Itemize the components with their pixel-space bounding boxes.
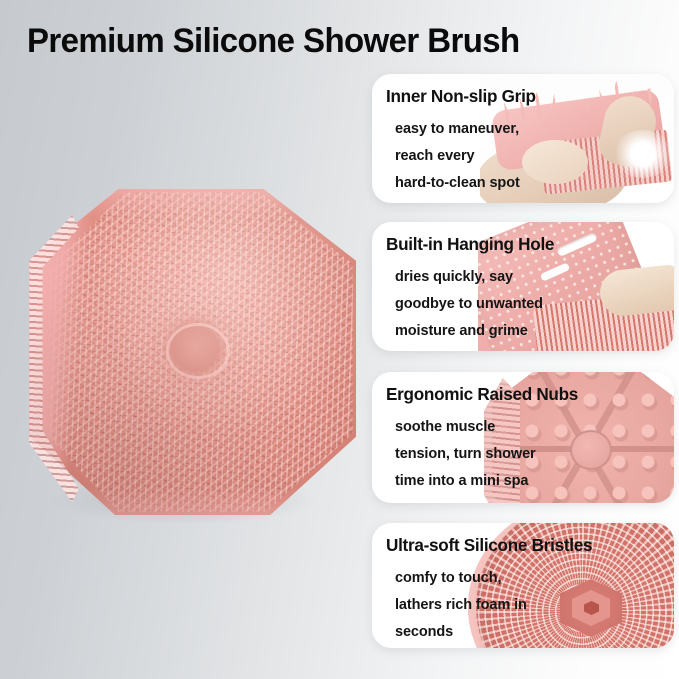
feature-card-4-line-3: seconds	[386, 619, 596, 646]
feature-card-1-lines: easy to maneuver, reach every hard-to-cl…	[386, 116, 539, 197]
feature-card-1-line-2: reach every	[386, 143, 539, 170]
page-title: Premium Silicone Shower Brush	[27, 20, 520, 62]
feature-card-1-text: Inner Non-slip Grip easy to maneuver, re…	[386, 86, 539, 197]
foam-highlight	[612, 130, 674, 178]
feature-card-3[interactable]: Ergonomic Raised Nubs soothe muscle tens…	[372, 372, 674, 503]
feature-card-1-title: Inner Non-slip Grip	[386, 86, 536, 107]
feature-card-1[interactable]: Inner Non-slip Grip easy to maneuver, re…	[372, 74, 674, 203]
feature-card-2-text: Built-in Hanging Hole dries quickly, say…	[386, 234, 558, 345]
feature-card-2-line-2: goodbye to unwanted	[386, 291, 558, 318]
feature-card-1-line-1: easy to maneuver,	[386, 116, 539, 143]
hero-product-image	[8, 175, 378, 545]
feature-card-3-line-2: tension, turn shower	[386, 441, 582, 468]
feature-card-3-lines: soothe muscle tension, turn shower time …	[386, 414, 582, 495]
feature-card-4-title: Ultra-soft Silicone Bristles	[386, 535, 592, 556]
feature-card-4-lines: comfy to touch, lathers rich foam in sec…	[386, 565, 596, 646]
feature-card-4[interactable]: Ultra-soft Silicone Bristles comfy to to…	[372, 523, 674, 648]
feature-card-1-line-3: hard-to-clean spot	[386, 170, 539, 197]
feature-card-2-line-3: moisture and grime	[386, 318, 558, 345]
feature-card-3-line-3: time into a mini spa	[386, 468, 582, 495]
feature-card-4-text: Ultra-soft Silicone Bristles comfy to to…	[386, 535, 596, 646]
feature-card-3-title: Ergonomic Raised Nubs	[386, 384, 578, 405]
feature-card-3-text: Ergonomic Raised Nubs soothe muscle tens…	[386, 384, 582, 495]
feature-card-3-line-1: soothe muscle	[386, 414, 582, 441]
feature-card-4-line-2: lathers rich foam in	[386, 592, 596, 619]
feature-card-2-title: Built-in Hanging Hole	[386, 234, 554, 255]
feature-card-2-line-1: dries quickly, say	[386, 264, 558, 291]
product-infographic: Premium Silicone Shower Brush Inner Non-…	[0, 0, 679, 679]
feature-card-2-lines: dries quickly, say goodbye to unwanted m…	[386, 264, 558, 345]
feature-card-4-line-1: comfy to touch,	[386, 565, 596, 592]
feature-card-2[interactable]: Built-in Hanging Hole dries quickly, say…	[372, 222, 674, 351]
brush-highlight	[26, 189, 356, 515]
